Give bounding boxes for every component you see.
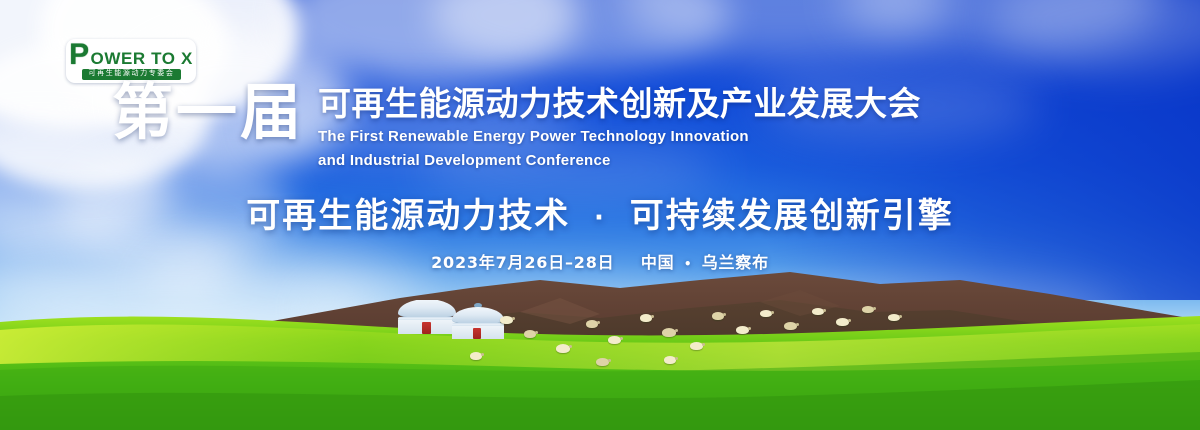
yurt-door [473, 328, 481, 339]
sheep [784, 322, 797, 330]
conference-title-cn: 可再生能源动力技术创新及产业发展大会 [318, 86, 921, 123]
event-date: 2023年7月26日–28日 [431, 253, 614, 272]
yurt-door [422, 322, 431, 334]
sheep [640, 314, 652, 322]
logo-wordtext: OWER TO X [91, 50, 193, 67]
event-meta: 2023年7月26日–28日 中国 • 乌兰察布 [0, 249, 1200, 273]
sheep [596, 358, 609, 366]
event-city: 乌兰察布 [702, 253, 769, 272]
sheep [712, 312, 724, 320]
edition-label: 第一届 [112, 84, 304, 142]
conference-slogan: 可再生能源动力技术 · 可持续发展创新引擎 [0, 188, 1200, 237]
sheep [862, 306, 874, 313]
grassland [0, 300, 1200, 430]
meta-spacer [621, 253, 641, 272]
yurt [398, 300, 456, 332]
headline-block: 第一届 可再生能源动力技术创新及产业发展大会 The First Renewab… [112, 84, 1112, 171]
conference-title-en-line2: and Industrial Development Conference [318, 151, 921, 171]
sheep [586, 320, 598, 328]
sheep [524, 330, 536, 338]
yurt [452, 306, 504, 336]
sheep [662, 328, 676, 337]
slogan-part-left: 可再生能源动力技术 [246, 196, 570, 236]
sheep [470, 352, 482, 360]
location-bullet: • [681, 257, 695, 271]
sheep [736, 326, 749, 334]
sheep [500, 316, 513, 324]
sheep [812, 308, 824, 315]
logo-wordmark: P OWER TO X [69, 42, 193, 68]
sheep [690, 342, 703, 350]
slogan-part-right: 可持续发展创新引擎 [630, 196, 954, 236]
sheep [664, 356, 676, 364]
logo-initial: P [69, 42, 89, 68]
slogan-separator-dot: · [584, 203, 616, 233]
sheep [888, 314, 900, 321]
conference-title-en-line1: The First Renewable Energy Power Technol… [318, 127, 921, 147]
conference-banner: P OWER TO X 可再生能源动力专委会 第一届 可再生能源动力技术创新及产… [0, 0, 1200, 430]
sheep [836, 318, 849, 326]
sheep [608, 336, 621, 344]
event-country: 中国 [641, 253, 675, 272]
sheep [760, 310, 772, 317]
sheep [556, 344, 570, 353]
